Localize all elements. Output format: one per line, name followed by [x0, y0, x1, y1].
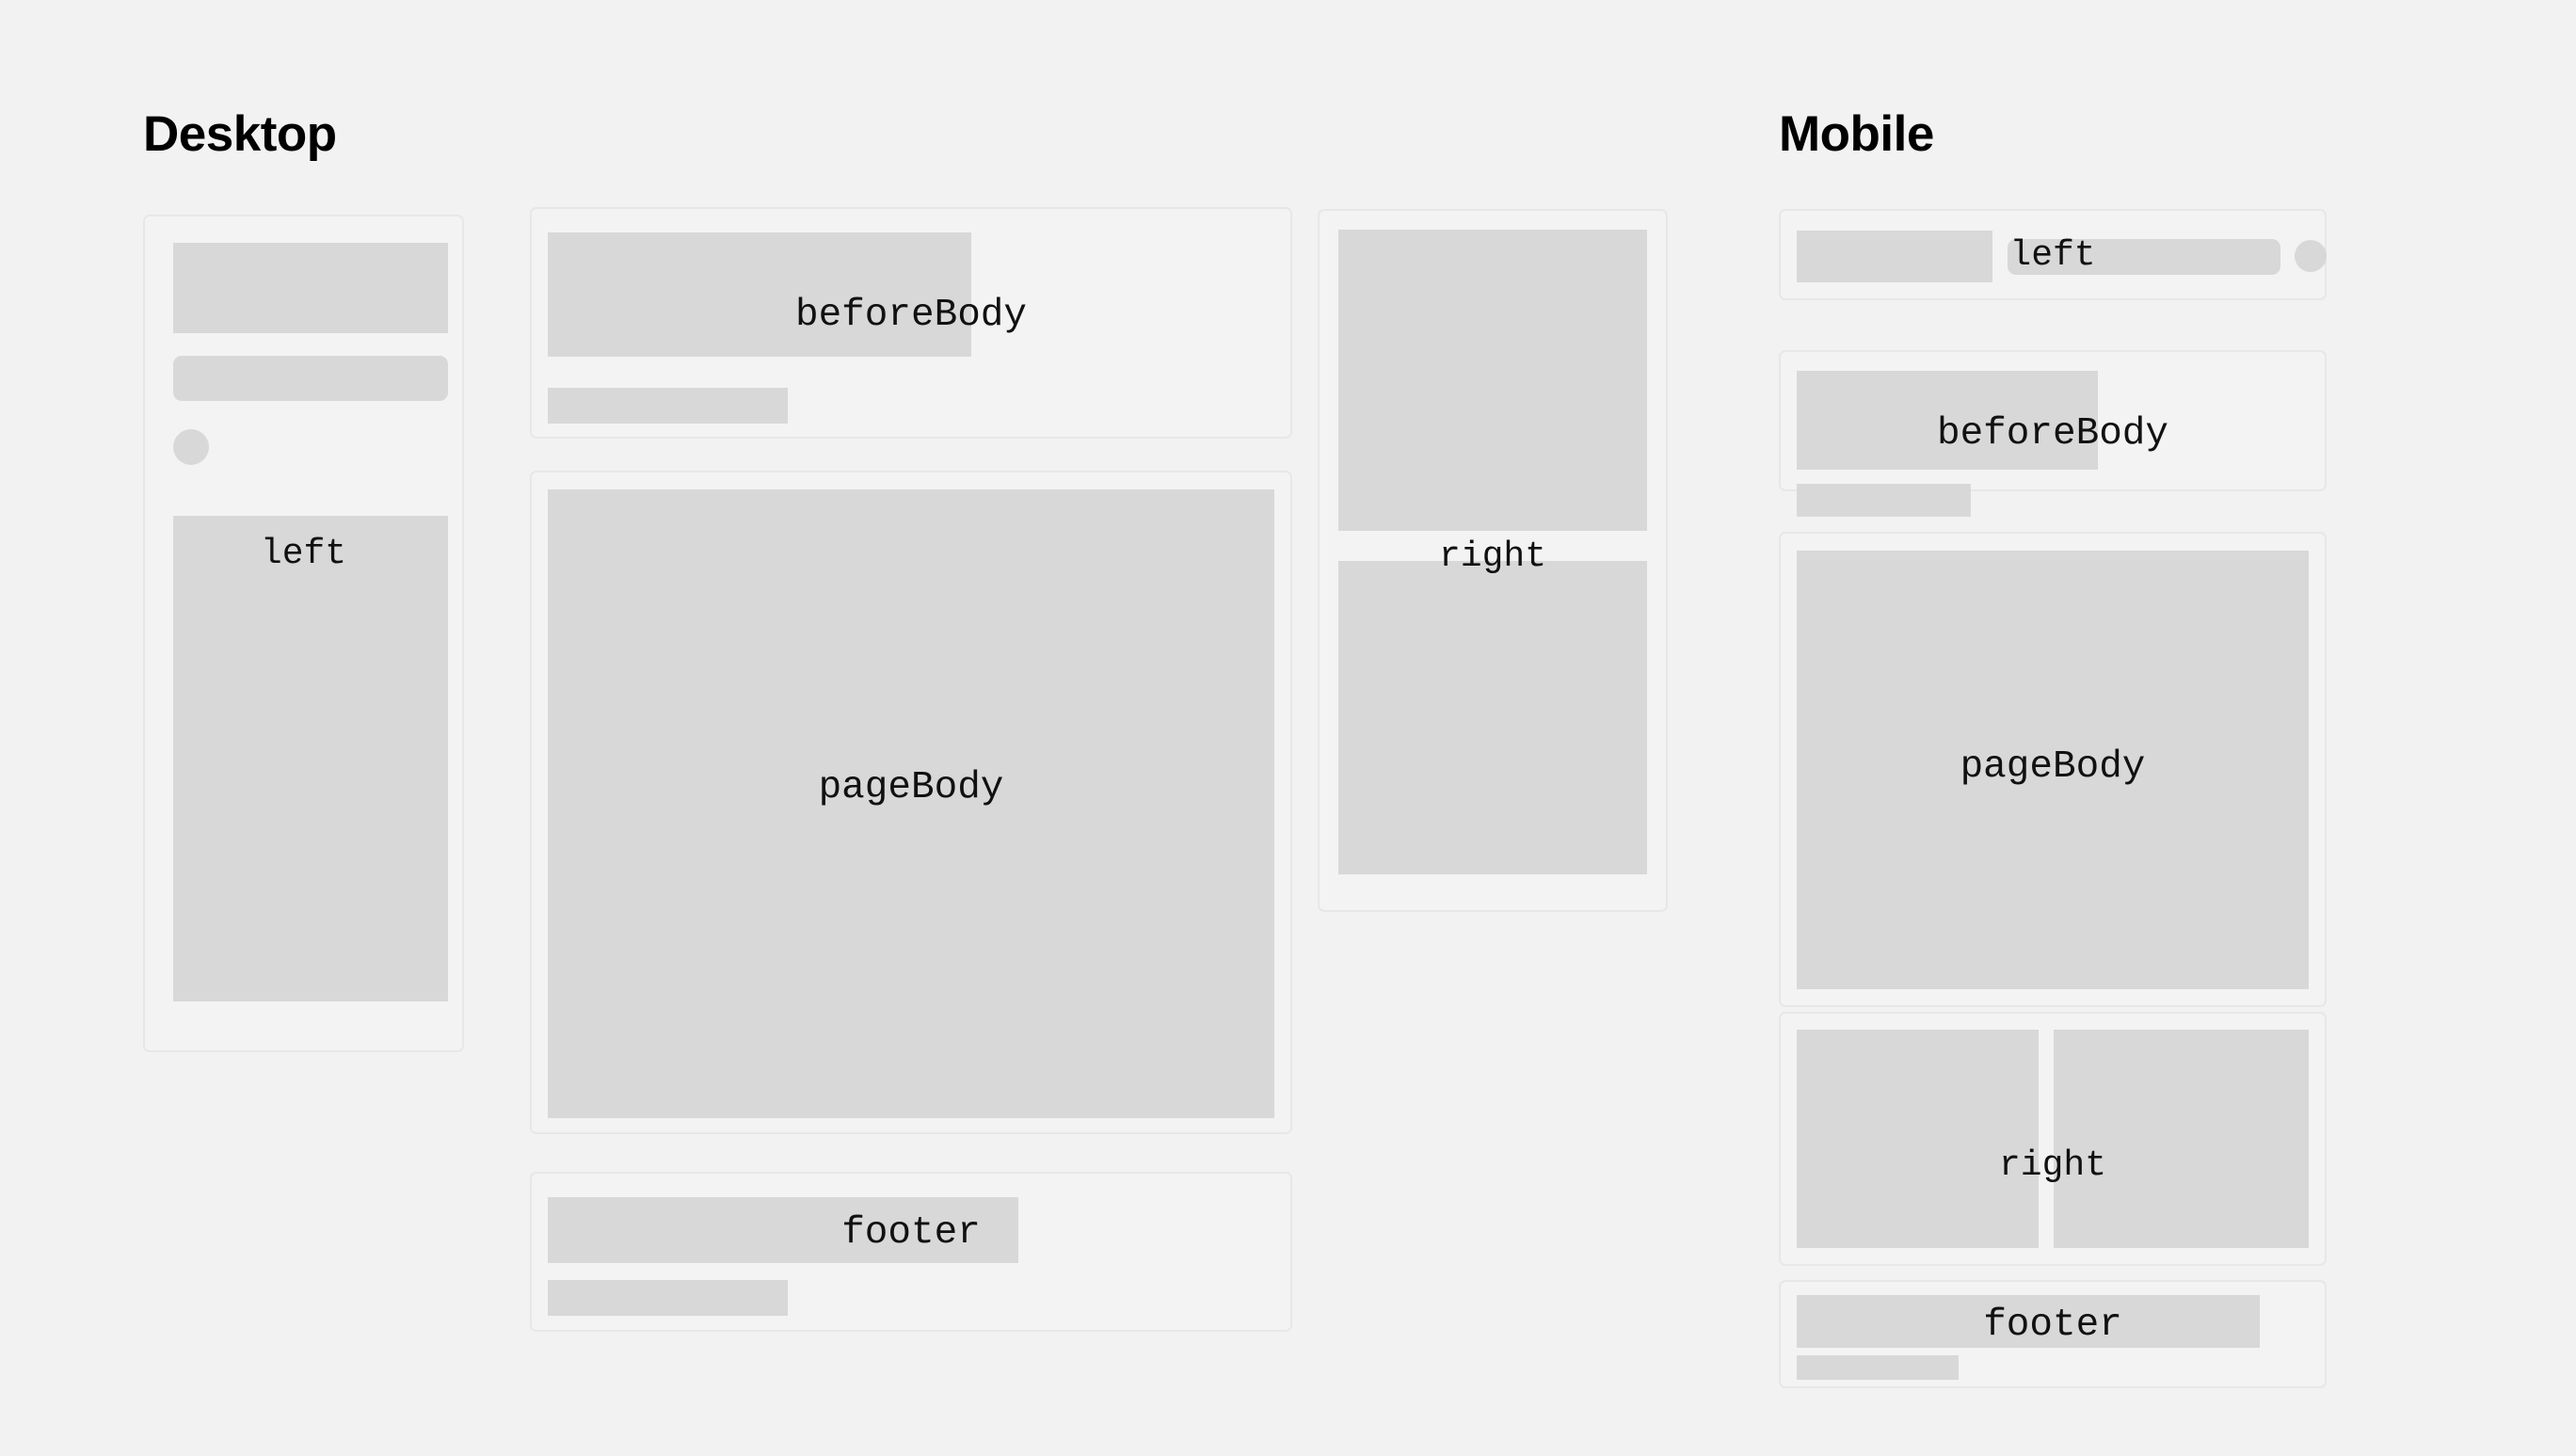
mobile-right-widget-block-right-placeholder — [2054, 1030, 2309, 1248]
desktop-left-avatar-dot-placeholder — [173, 429, 209, 465]
desktop-right-widget-block-top-placeholder — [1338, 230, 1647, 531]
mobile-right-region-panel[interactable] — [1779, 1012, 2327, 1266]
mobile-beforebody-region-panel[interactable] — [1779, 350, 2327, 491]
mobile-footer-heading-block-placeholder — [1797, 1295, 2260, 1348]
mobile-beforebody-heading-block-placeholder — [1797, 371, 2098, 470]
mobile-left-subheader-bar-placeholder — [2008, 239, 2280, 275]
mobile-left-region-panel[interactable] — [1779, 209, 2327, 300]
mobile-left-header-block-placeholder — [1797, 231, 1992, 282]
desktop-footer-subtext-bar-placeholder — [548, 1280, 788, 1316]
desktop-right-widget-block-bottom-placeholder — [1338, 561, 1647, 874]
desktop-beforebody-heading-block-placeholder — [548, 232, 971, 357]
desktop-footer-heading-block-placeholder — [548, 1197, 1018, 1263]
mobile-beforebody-subtext-bar-placeholder — [1797, 484, 1971, 517]
desktop-footer-region-panel[interactable] — [530, 1172, 1292, 1332]
desktop-pagebody-region-panel[interactable] — [530, 471, 1292, 1134]
mobile-right-widget-block-left-placeholder — [1797, 1030, 2039, 1248]
desktop-left-region-panel[interactable] — [143, 215, 464, 1052]
desktop-left-header-block-placeholder — [173, 243, 448, 333]
desktop-beforebody-region-panel[interactable] — [530, 207, 1292, 439]
mobile-footer-subtext-bar-placeholder — [1797, 1355, 1959, 1380]
mobile-section-title: Mobile — [1779, 109, 1934, 159]
desktop-pagebody-content-block-placeholder — [548, 489, 1274, 1118]
desktop-left-nav-block-placeholder — [173, 516, 448, 1001]
mobile-pagebody-region-panel[interactable] — [1779, 532, 2327, 1007]
mobile-left-avatar-dot-placeholder — [2295, 240, 2327, 272]
desktop-right-region-panel[interactable] — [1318, 209, 1668, 912]
mobile-pagebody-content-block-placeholder — [1797, 551, 2309, 989]
desktop-section-title: Desktop — [143, 109, 337, 159]
mobile-footer-region-panel[interactable] — [1779, 1280, 2327, 1388]
desktop-beforebody-subtext-bar-placeholder — [548, 388, 788, 424]
desktop-left-subheader-bar-placeholder — [173, 356, 448, 401]
